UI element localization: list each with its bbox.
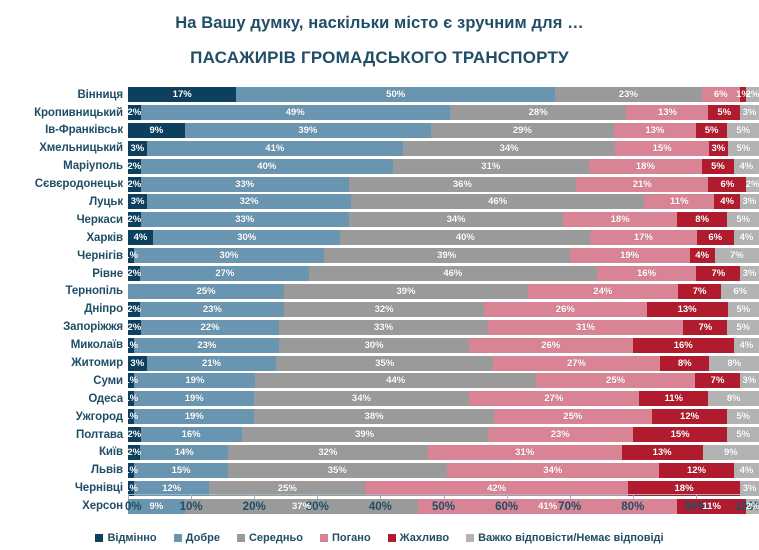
bar-segment: 34% [403,141,615,156]
bar-segment: 1% [128,338,134,353]
axis-tick [317,494,318,499]
axis-tick-label: 20% [243,501,266,513]
bar-segment: 13% [622,445,703,460]
bar-row: Хмельницький3%41%34%15%3%5% [0,140,759,157]
row-label-12: Дніпро [0,303,128,315]
bar-segment: 46% [309,266,596,281]
bar-segment: 46% [351,194,644,209]
row-label-18: Ужгород [0,411,128,423]
stacked-bar: 2%22%33%31%7%5% [128,320,759,335]
legend-swatch-icon [174,534,182,542]
bar-segment: 1% [128,409,134,424]
row-label-17: Одеса [0,393,128,405]
row-label-9: Чернігів [0,250,128,262]
legend-label: Середньо [249,532,303,544]
bar-segment: 19% [570,248,690,263]
bar-segment: 30% [134,248,323,263]
stacked-bar: 3%32%46%11%4%3% [128,194,759,209]
bar-row: Рівне2%27%46%16%7%3% [0,265,759,282]
chart-title-sub: ПАСАЖИРІВ ГРОМАДСЬКОГО ТРАНСПОРТУ [0,48,759,68]
stacked-bar: 1%19%44%25%7%3% [128,373,759,388]
bar-segment: 11% [644,194,714,209]
bar-segment: 38% [254,409,494,424]
bar-row: Ів-Франківськ9%39%29%13%5%5% [0,122,759,139]
bar-segment: 13% [626,105,708,120]
legend-label: Добре [186,532,220,544]
bar-segment: 49% [141,105,450,120]
bar-segment: 23% [555,87,702,102]
bar-segment: 33% [141,177,349,192]
bar-segment: 2% [128,212,141,227]
row-label-13: Запоріжжя [0,321,128,333]
legend-item[interactable]: Погано [320,532,371,544]
bar-segment: 6% [702,87,740,102]
axis-tick-label: 70% [558,501,581,513]
bar-segment: 4% [714,194,739,209]
row-label-16: Суми [0,375,128,387]
axis-tick-label: 0% [125,501,142,513]
bar-segment: 2% [128,177,141,192]
legend-item[interactable]: Добре [174,532,220,544]
bar-row: Вінниця17%50%23%6%1%2% [0,86,759,103]
bar-segment: 32% [228,445,428,460]
stacked-bar: 1%30%39%19%4%7% [128,248,759,263]
stacked-bar: 1%19%34%27%11%8% [128,391,759,406]
bar-segment: 2% [128,159,141,174]
bar-segment: 3% [128,141,147,156]
bar-segment: 2% [746,177,759,192]
bar-segment: 17% [128,87,236,102]
legend-label: Важко відповісти/Немає відповіді [478,532,663,544]
axis-tick [633,494,634,499]
bar-segment: 40% [340,230,590,245]
stacked-bar: 17%50%23%6%1%2% [128,87,759,102]
legend-item[interactable]: Відмінно [95,532,156,544]
chart-legend: ВідмінноДобреСередньоПоганоЖахливоВажко … [0,527,759,544]
bar-segment: 5% [702,159,734,174]
stacked-bar: 1%23%30%26%16%4% [128,338,759,353]
bar-segment: 28% [450,105,627,120]
bar-segment: 3% [740,481,759,496]
bar-segment: 16% [141,427,242,442]
legend-swatch-icon [95,534,103,542]
bar-row: Суми1%19%44%25%7%3% [0,372,759,389]
bar-segment: 3% [709,141,728,156]
bar-segment: 34% [447,463,659,478]
bar-segment: 39% [242,427,488,442]
stacked-bar: 3%21%35%27%8%8% [128,356,759,371]
row-label-20: Київ [0,446,128,458]
bar-segment: 1% [128,481,134,496]
bar-segment: 8% [708,391,758,406]
stacked-bar: 25%39%24%7%6% [128,284,759,299]
bar-segment: 19% [134,391,254,406]
axis-tick [696,494,697,499]
bar-segment: 2% [128,427,141,442]
bar-segment: 1% [128,248,134,263]
bar-segment: 35% [228,463,447,478]
row-label-23: Херсон [0,500,128,512]
bar-segment: 39% [324,248,570,263]
bar-segment: 34% [254,391,469,406]
axis-tick [191,494,192,499]
bar-segment: 21% [147,356,277,371]
plot-area: Вінниця17%50%23%6%1%2%Кропивницький2%49%… [0,86,759,498]
bar-segment: 31% [393,159,589,174]
legend-swatch-icon [237,534,245,542]
stacked-bar: 2%33%36%21%6%2% [128,177,759,192]
row-label-2: Ів-Франківськ [0,124,128,136]
bar-segment: 3% [740,266,759,281]
bar-segment: 4% [734,463,759,478]
bar-segment: 5% [708,105,740,120]
row-label-10: Рівне [0,268,128,280]
bar-segment: 1% [128,463,134,478]
stacked-bar: 2%23%32%26%13%5% [128,302,759,317]
bar-segment: 17% [590,230,696,245]
bar-segment: 5% [696,123,728,138]
bar-segment: 13% [614,123,696,138]
axis-tick [570,494,571,499]
legend-swatch-icon [466,534,474,542]
bar-segment: 11% [639,391,708,406]
stacked-bar: 2%49%28%13%5%3% [128,105,759,120]
bar-segment: 13% [647,302,728,317]
legend-item[interactable]: Середньо [237,532,303,544]
bar-segment: 25% [128,284,284,299]
bar-segment: 3% [128,194,147,209]
bar-segment: 29% [431,123,614,138]
bar-segment: 12% [659,463,734,478]
bar-row: Дніпро2%23%32%26%13%5% [0,301,759,318]
row-label-6: Луцьк [0,196,128,208]
bar-segment: 1% [128,391,134,406]
axis-tick [254,494,255,499]
bar-segment: 4% [734,338,759,353]
bar-segment: 8% [677,212,727,227]
bar-segment: 4% [128,230,153,245]
bar-rows: Вінниця17%50%23%6%1%2%Кропивницький2%49%… [0,86,759,515]
legend-swatch-icon [388,534,396,542]
bar-segment: 41% [147,141,403,156]
bar-segment: 2% [128,105,141,120]
bar-segment: 4% [734,230,759,245]
bar-segment: 44% [255,373,535,388]
bar-segment: 23% [488,427,633,442]
bar-segment: 15% [633,427,728,442]
stacked-bar: 1%15%35%34%12%4% [128,463,759,478]
bar-segment: 5% [727,409,759,424]
bar-segment: 39% [185,123,431,138]
bar-row: Ужгород1%19%38%25%12%5% [0,408,759,425]
bar-row: Харків4%30%40%17%6%4% [0,229,759,246]
bar-segment: 14% [140,445,227,460]
bar-segment: 27% [469,391,639,406]
bar-segment: 15% [615,141,709,156]
bar-segment: 23% [140,302,284,317]
stacked-bar: 2%16%39%23%15%5% [128,427,759,442]
title-block: На Вашу думку, наскільки місто є зручним… [0,0,759,68]
bar-segment: 33% [141,212,349,227]
bar-segment: 2% [746,87,759,102]
row-label-8: Харків [0,232,128,244]
bar-segment: 32% [147,194,351,209]
bar-segment: 5% [728,302,759,317]
bar-segment: 19% [134,373,255,388]
bar-row: Тернопіль25%39%24%7%6% [0,283,759,300]
bar-segment: 34% [349,212,564,227]
bar-segment: 31% [428,445,622,460]
bar-row: Київ2%14%32%31%13%9% [0,444,759,461]
bar-segment: 6% [697,230,734,245]
bar-segment: 6% [708,177,746,192]
bar-segment: 33% [279,320,487,335]
legend-label: Погано [332,532,371,544]
bar-segment: 32% [284,302,484,317]
bar-row: Одеса1%19%34%27%11%8% [0,390,759,407]
chart-container: На Вашу думку, наскільки місто є зручним… [0,0,759,550]
axis-tick-label: 60% [495,501,518,513]
bar-row: Миколаїв1%23%30%26%16%4% [0,336,759,353]
axis-tick [444,494,445,499]
bar-segment: 22% [141,320,280,335]
bar-segment: 2% [128,266,140,281]
row-label-1: Кропивницький [0,107,128,119]
stacked-bar: 3%41%34%15%3%5% [128,141,759,156]
bar-segment: 3% [740,105,759,120]
bar-segment: 27% [140,266,309,281]
bar-segment: 50% [236,87,555,102]
bar-segment: 9% [703,445,759,460]
row-label-4: Маріуполь [0,160,128,172]
bar-segment: 3% [128,356,147,371]
bar-segment: 12% [652,409,728,424]
bar-segment: 35% [276,356,493,371]
bar-segment: 2% [128,445,140,460]
bar-segment: 39% [284,284,528,299]
bar-segment: 25% [494,409,652,424]
axis-tick [507,494,508,499]
bar-row: Полтава2%16%39%23%15%5% [0,426,759,443]
row-label-5: Сєвєродонецьк [0,178,128,190]
bar-segment: 2% [128,302,140,317]
bar-segment: 30% [279,338,468,353]
bar-row: Львів1%15%35%34%12%4% [0,462,759,479]
bar-segment: 40% [141,159,393,174]
row-label-19: Полтава [0,429,128,441]
row-label-3: Хмельницький [0,142,128,154]
bar-segment: 1% [128,373,134,388]
bar-row: Луцьк3%32%46%11%4%3% [0,193,759,210]
bar-row: Чернігів1%30%39%19%4%7% [0,247,759,264]
chart-title-main: На Вашу думку, наскільки місто є зручним… [0,14,759,33]
bar-segment: 3% [740,373,759,388]
bar-segment: 30% [153,230,340,245]
stacked-bar: 1%19%38%25%12%5% [128,409,759,424]
legend-swatch-icon [320,534,328,542]
axis-tick-label: 50% [432,501,455,513]
bar-segment: 7% [715,248,759,263]
bar-segment: 2% [746,499,759,514]
legend-item[interactable]: Жахливо [388,532,449,544]
row-label-22: Чернівці [0,482,128,494]
legend-item[interactable]: Важко відповісти/Немає відповіді [466,532,663,544]
bar-row: Житомир3%21%35%27%8%8% [0,354,759,371]
bar-segment: 16% [633,338,734,353]
stacked-bar: 9%39%29%13%5%5% [128,123,759,138]
bar-segment: 26% [469,338,633,353]
x-axis: 0%10%20%30%40%50%60%70%80%90%100% [128,494,759,528]
row-label-11: Тернопіль [0,285,128,297]
bar-segment: 27% [493,356,660,371]
bar-segment: 5% [727,123,759,138]
bar-segment: 21% [576,177,709,192]
row-label-15: Житомир [0,357,128,369]
axis-tick-label: 80% [621,501,644,513]
axis-tick [380,494,381,499]
stacked-bar: 2%40%31%18%5%4% [128,159,759,174]
stacked-bar: 2%33%34%18%8%5% [128,212,759,227]
bar-segment: 36% [349,177,576,192]
bar-segment: 15% [134,463,228,478]
legend-label: Жахливо [400,532,449,544]
bar-segment: 3% [740,194,759,209]
row-label-0: Вінниця [0,89,128,101]
row-label-21: Львів [0,464,128,476]
axis-tick [128,494,129,499]
bar-segment: 16% [597,266,697,281]
axis-tick-label: 40% [369,501,392,513]
bar-segment: 19% [134,409,254,424]
bar-segment: 8% [709,356,758,371]
bar-segment: 7% [695,373,740,388]
bar-segment: 7% [678,284,722,299]
bar-segment: 4% [690,248,715,263]
bar-segment: 7% [696,266,740,281]
legend-label: Відмінно [107,532,156,544]
stacked-bar: 2%14%32%31%13%9% [128,445,759,460]
bar-segment: 18% [563,212,677,227]
bar-segment: 2% [128,320,141,335]
bar-row: Запоріжжя2%22%33%31%7%5% [0,319,759,336]
stacked-bar: 4%30%40%17%6%4% [128,230,759,245]
bar-segment: 31% [488,320,684,335]
bar-segment: 7% [683,320,727,335]
axis-tick-label: 10% [180,501,203,513]
bar-segment: 8% [660,356,709,371]
bar-row: Маріуполь2%40%31%18%5%4% [0,158,759,175]
bar-segment: 9% [128,123,185,138]
bar-segment: 18% [589,159,703,174]
bar-segment: 5% [727,320,759,335]
bar-segment: 5% [727,427,759,442]
stacked-bar: 2%27%46%16%7%3% [128,266,759,281]
bar-segment: 23% [134,338,279,353]
bar-row: Кропивницький2%49%28%13%5%3% [0,104,759,121]
bar-segment: 24% [528,284,678,299]
bar-row: Черкаси2%33%34%18%8%5% [0,211,759,228]
bar-segment: 5% [727,212,759,227]
bar-segment: 5% [728,141,759,156]
row-label-7: Черкаси [0,214,128,226]
bar-row: Сєвєродонецьк2%33%36%21%6%2% [0,175,759,192]
bar-segment: 25% [536,373,695,388]
bar-segment: 26% [484,302,646,317]
row-label-14: Миколаїв [0,339,128,351]
bar-segment: 4% [734,159,759,174]
bar-segment: 6% [721,284,758,299]
